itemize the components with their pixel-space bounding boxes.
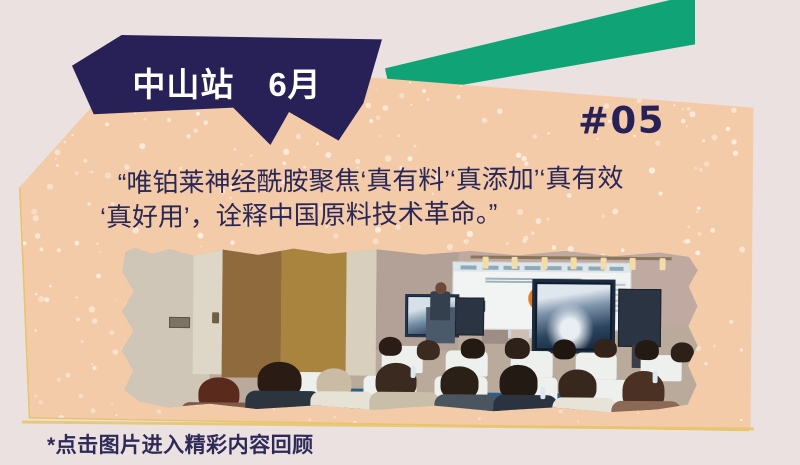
quote-line-2: ‘真好用’，诠释中国原料技术革命。” [100,194,710,234]
photo-door-4 [346,247,377,375]
photo-speaker-small [455,298,484,336]
photo-speaker-large [617,289,661,347]
quote-text: “唯铂莱神经酰胺聚焦‘真有料’‘真添加’‘真有效 ‘真好用’，诠释中国原料技术革… [100,160,711,234]
photo-audience-head [417,340,441,360]
photo-audience-head [670,342,694,362]
photo-door-handle [212,312,219,324]
photo-audience-head [552,339,576,359]
photo-door-3 [281,247,347,379]
photo-audience-head [378,336,402,356]
photo-audience-head [505,337,530,359]
photo-audience-head [461,339,485,359]
photo-presenter-body [430,291,450,321]
issue-number: #05 [578,98,666,142]
photo-audience-head [594,338,618,358]
photo-audience-head [635,340,659,360]
photo-door-1 [192,246,223,374]
event-photo-image [115,245,706,414]
photo-door-2 [222,246,282,378]
event-photo[interactable] [115,245,706,414]
quote-line-1: “唯铂莱神经酰胺聚焦‘真有料’‘真添加’‘真有效 [100,160,710,200]
photo-wall-switch [169,316,190,327]
photo-caption: *点击图片进入精彩内容回顾 [47,429,314,459]
poster-canvas: 中山站 6月 #05 “唯铂莱神经酰胺聚焦‘真有料’‘真添加’‘真有效 ‘真好用… [0,0,800,465]
station-badge-label: 中山站 6月 [132,58,321,106]
